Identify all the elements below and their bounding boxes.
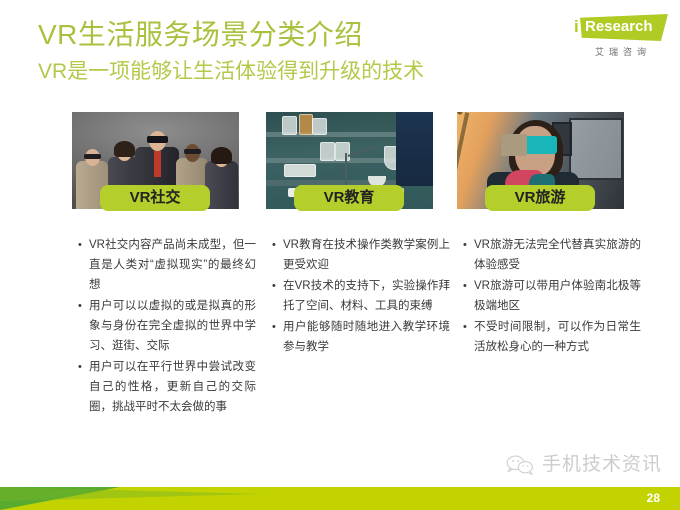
- watermark: 手机技术资讯: [505, 452, 662, 478]
- content-columns: VR社交 VR社交内容产品尚未成型，但一直是人类对“虚拟现实”的最终幻想 用户可…: [0, 112, 680, 472]
- bullet-list-social: VR社交内容产品尚未成型，但一直是人类对“虚拟现实”的最终幻想 用户可以以虚拟的…: [78, 235, 256, 418]
- bullet-list-travel: VR旅游无法完全代替真实旅游的体验感受 VR旅游可以带用户体验南北极等极端地区 …: [463, 235, 641, 358]
- watermark-text: 手机技术资讯: [542, 454, 662, 476]
- pill-label-travel: VR旅游: [485, 185, 595, 211]
- list-item: 用户可以以虚拟的或是拟真的形象与身份在完全虚拟的世界中学习、逛街、交际: [78, 296, 256, 356]
- page-title: VR生活服务场景分类介绍: [38, 18, 538, 52]
- column-education: VR教育 VR教育在技术操作类教学案例上更受欢迎 在VR技术的支持下，实验操作拜…: [266, 112, 456, 209]
- photo-wrap-social: VR社交: [72, 112, 239, 209]
- list-item: VR旅游可以带用户体验南北极等极端地区: [463, 276, 641, 316]
- logo-letter-i: i: [574, 18, 579, 35]
- page-subtitle: VR是一项能够让生活体验得到升级的技术: [38, 58, 538, 86]
- title-block: VR生活服务场景分类介绍 VR是一项能够让生活体验得到升级的技术: [38, 18, 538, 86]
- bottom-bar: 28: [0, 487, 680, 510]
- bullet-list-education: VR教育在技术操作类教学案例上更受欢迎 在VR技术的支持下，实验操作拜托了空间、…: [272, 235, 450, 358]
- iresearch-logo: i Research 艾瑞咨询: [572, 12, 670, 64]
- pill-label-social: VR社交: [100, 185, 210, 211]
- photo-wrap-travel: VR旅游: [457, 112, 624, 209]
- list-item: VR社交内容产品尚未成型，但一直是人类对“虚拟现实”的最终幻想: [78, 235, 256, 295]
- logo-chinese-name: 艾瑞咨询: [582, 46, 664, 58]
- column-social: VR社交 VR社交内容产品尚未成型，但一直是人类对“虚拟现实”的最终幻想 用户可…: [72, 112, 262, 209]
- logo-wordmark: Research: [585, 17, 653, 36]
- page-number: 28: [647, 487, 660, 510]
- logo-mark: i Research: [572, 12, 668, 44]
- wechat-icon: [505, 454, 535, 476]
- column-travel: VR旅游 VR旅游无法完全代替真实旅游的体验感受 VR旅游可以带用户体验南北极等…: [457, 112, 647, 209]
- slide: VR生活服务场景分类介绍 VR是一项能够让生活体验得到升级的技术 i Resea…: [0, 0, 680, 510]
- bar-wedge-light: [0, 487, 260, 510]
- list-item: 在VR技术的支持下，实验操作拜托了空间、材料、工具的束缚: [272, 276, 450, 316]
- list-item: VR教育在技术操作类教学案例上更受欢迎: [272, 235, 450, 275]
- pill-label-education: VR教育: [294, 185, 404, 211]
- list-item: 用户可以在平行世界中尝试改变自己的性格，更新自己的交际圈，挑战平时不太会做的事: [78, 357, 256, 417]
- list-item: 用户能够随时随地进入教学环境参与教学: [272, 317, 450, 357]
- photo-wrap-education: VR教育: [266, 112, 433, 209]
- list-item: VR旅游无法完全代替真实旅游的体验感受: [463, 235, 641, 275]
- list-item: 不受时间限制，可以作为日常生活放松身心的一种方式: [463, 317, 641, 357]
